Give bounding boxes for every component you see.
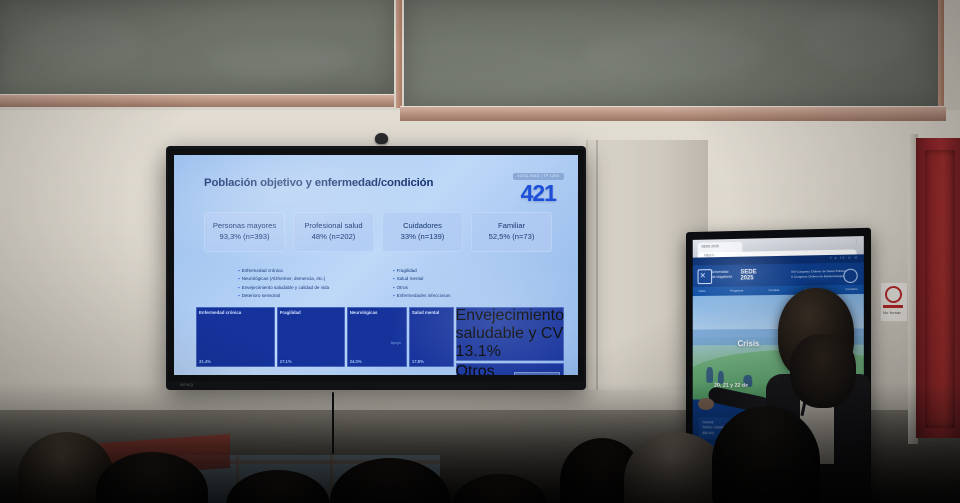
bullet-marker-icon: ▪	[238, 276, 240, 281]
bullet-item: ▪Fragilidad	[393, 267, 548, 275]
nav-item[interactable]: Inicio	[699, 289, 706, 293]
university-logo-text: Universidad de Magallanes	[712, 270, 732, 280]
segment-value: 24.0%	[350, 359, 362, 364]
chart-segment-group: Envejecimiento saludable y CV 13.1% Otro…	[456, 307, 565, 367]
chart-segment: Enfermedad crónica 31.4%	[196, 307, 275, 367]
no-smoking-bar-icon	[883, 305, 903, 308]
bullet-item: ▪Enfermedad crónica	[238, 267, 393, 275]
ghost-annotation: Apoyo	[391, 341, 401, 345]
bullet-text: Envejecimiento saludable y calidad de vi…	[242, 285, 330, 290]
social-icons[interactable]: f ▸ in ⊙ ✉	[830, 255, 858, 260]
segment-value: 17.8%	[412, 359, 424, 364]
bullet-text: Fragilidad	[397, 268, 417, 273]
browser-menu-icon[interactable]: ⋮	[855, 238, 860, 243]
badge-number: 421	[513, 183, 564, 205]
bullet-text: Enfermedades infecciosas	[397, 293, 451, 298]
card-label: Familiar	[474, 221, 549, 231]
congress-title: XIII Congreso Chileno de Salud Pública X…	[791, 269, 846, 280]
bullet-item: ▪Enfermedades infecciosas	[393, 292, 548, 300]
chalkboard-left	[0, 0, 394, 94]
bullet-marker-icon: ▪	[238, 268, 240, 273]
chart-segment: Salud mental 17.8%	[409, 307, 454, 367]
bullet-text: Deterioro sensorial	[242, 293, 281, 298]
chalkboard-frame-middle	[396, 0, 402, 108]
bullet-marker-icon: ▪	[238, 293, 240, 298]
segment-label: Salud mental	[412, 310, 439, 316]
browser-tab-title: SEDE 2025	[701, 244, 718, 248]
chart-segment: Fragilidad 27.1%	[277, 307, 345, 367]
bullet-item: ▪Otros	[393, 284, 548, 292]
slide-bullets: ▪Enfermedad crónica ▪Neurológicas (Alzhe…	[238, 267, 548, 301]
bullet-marker-icon: ▪	[393, 293, 395, 298]
segment-value: 13.1%	[456, 343, 565, 361]
chalkboard-frame-right	[938, 0, 944, 114]
audience-card: Profesional salud 48% (n=202)	[293, 212, 374, 252]
audience-card: Cuidadores 33% (n=139)	[382, 212, 463, 252]
red-door-panel	[925, 150, 955, 428]
presentation-slide: Población objetivo y enfermedad/condició…	[174, 155, 578, 375]
bullet-text: Salud mental	[397, 276, 424, 281]
chalkboard-right	[404, 0, 942, 106]
slide-title: Población objetivo y enfermedad/condició…	[204, 177, 433, 189]
logo-glyph-icon: ✕	[699, 271, 705, 280]
overlay-ghost-window	[514, 372, 560, 375]
card-value: 93,3% (n=393)	[207, 231, 282, 242]
presenter-hair-lower	[790, 334, 856, 408]
no-smoking-sign: No fumar	[880, 282, 908, 322]
chalk-ledge-right	[400, 106, 946, 121]
display-cable	[332, 392, 334, 454]
card-value: 33% (n=139)	[385, 231, 460, 242]
bullet-item: ▪Envejecimiento saludable y calidad de v…	[238, 284, 393, 292]
bullet-marker-icon: ▪	[393, 268, 395, 273]
sede-badge: SEDE 2025	[740, 269, 756, 281]
slide-badge: #2OQ-INAD | TP 1256 421	[513, 164, 564, 205]
bullet-item: ▪Deterioro sensorial	[238, 292, 393, 300]
segment-label: Envejecimiento saludable y CV	[456, 307, 565, 343]
segment-label: Neurológicas	[350, 310, 378, 316]
card-label: Personas mayores	[207, 221, 282, 231]
bullet-text: Neurológicas (Alzheimer, demencia, etc.)	[242, 276, 326, 281]
no-smoking-circle-icon	[885, 286, 902, 303]
bullet-text: Enfermedad crónica	[242, 268, 283, 273]
audience-card: Familiar 52,5% (n=73)	[471, 212, 552, 252]
bullet-marker-icon: ▪	[238, 285, 240, 290]
card-label: Cuidadores	[385, 221, 460, 231]
camera-icon	[375, 133, 388, 144]
hero-title: Crisis	[737, 339, 759, 348]
wall-panel-edge	[596, 140, 598, 390]
card-value: 52,5% (n=73)	[474, 231, 549, 242]
lecture-hall-scene: No fumar Población objetivo y enfermedad…	[0, 0, 960, 503]
bullet-column-left: ▪Enfermedad crónica ▪Neurológicas (Alzhe…	[238, 267, 393, 301]
no-smoking-label: No fumar	[883, 310, 901, 315]
congress-title-line-2: X Congreso Chileno de Epidemiología	[791, 274, 846, 280]
audience-card: Personas mayores 93,3% (n=393)	[204, 212, 285, 252]
chart-segment: Otros 5.0%	[456, 363, 565, 375]
card-label: Profesional salud	[296, 221, 371, 231]
condition-bar-chart: Enfermedad crónica 31.4% Fragilidad 27.1…	[196, 307, 564, 367]
bullet-marker-icon: ▪	[393, 276, 395, 281]
segment-value: 31.4%	[199, 359, 211, 364]
badge-pill-label: #2OQ-INAD | TP 1256	[513, 173, 564, 180]
segment-label: Enfermedad crónica	[199, 310, 241, 316]
hero-figure	[706, 367, 713, 383]
main-display[interactable]: Población objetivo y enfermedad/condició…	[166, 146, 586, 390]
presenter-hand	[698, 398, 714, 410]
segment-label: Fragilidad	[280, 310, 301, 316]
card-value: 48% (n=202)	[296, 231, 371, 242]
bullet-marker-icon: ▪	[393, 285, 395, 290]
chart-segment: Neurológicas 24.0% Apoyo	[347, 307, 407, 367]
chalk-ledge-left	[0, 94, 394, 107]
bullet-item: ▪Neurológicas (Alzheimer, demencia, etc.…	[238, 275, 393, 283]
chart-segment: Envejecimiento saludable y CV 13.1%	[456, 307, 565, 361]
nav-item[interactable]: Programa	[730, 288, 743, 292]
segment-value: 27.1%	[280, 359, 292, 364]
bullet-item: ▪Salud mental	[393, 275, 548, 283]
bullet-text: Otros	[397, 285, 408, 290]
audience-cards: Personas mayores 93,3% (n=393) Profesion…	[204, 212, 552, 252]
sede-line-2: 2025	[740, 275, 756, 281]
bullet-column-right: ▪Fragilidad ▪Salud mental ▪Otros ▪Enferm…	[393, 267, 548, 301]
display-brand-logo: BENQ	[180, 382, 194, 387]
